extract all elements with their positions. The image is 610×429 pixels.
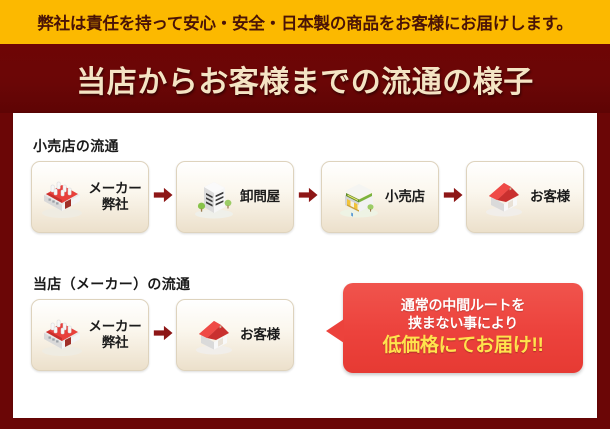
flow-node-retailshop[interactable]: 小売店	[321, 161, 439, 233]
flow-node-label: お客様	[530, 189, 570, 205]
flow-arrow	[294, 161, 321, 233]
flow-arrow	[149, 161, 176, 233]
flow-node-maker[interactable]: メーカー 弊社	[31, 161, 149, 233]
retail-shop-icon	[335, 173, 383, 221]
flow-node-label: お客様	[240, 327, 280, 343]
right-arrow-icon	[152, 184, 174, 211]
tagline-text: 弊社は責任を持って安心・安全・日本製の商品をお客様にお届けします。	[37, 10, 572, 34]
flow-node-label: 卸問屋	[240, 189, 280, 205]
right-arrow-icon	[442, 184, 464, 211]
callout-tail	[326, 319, 344, 343]
flow-node-label: メーカー 弊社	[88, 319, 141, 350]
callout-line-2: 挟まない事により	[408, 315, 518, 333]
tagline-banner: 弊社は責任を持って安心・安全・日本製の商品をお客様にお届けします。	[0, 0, 610, 44]
callout-line-1: 通常の中間ルートを	[401, 297, 525, 315]
section-heading-direct: 当店（メーカー）の流通	[33, 274, 190, 294]
callout-emphasis: 低価格にてお届け!!	[382, 334, 543, 359]
flow-row-direct: メーカー 弊社	[31, 299, 294, 371]
flow-node-customer[interactable]: お客様	[466, 161, 584, 233]
flow-node-label: 小売店	[385, 189, 425, 205]
flow-node-customer[interactable]: お客様	[176, 299, 294, 371]
right-arrow-icon	[297, 184, 319, 211]
office-building-icon	[190, 173, 238, 221]
right-arrow-icon	[152, 322, 174, 349]
price-callout: 通常の中間ルートを 挟まない事により 低価格にてお届け!!	[343, 283, 583, 373]
flow-arrow	[149, 299, 176, 371]
section-heading-retail: 小売店の流通	[33, 136, 119, 156]
flow-row-retail: メーカー 弊社	[31, 161, 584, 233]
factory-icon	[38, 311, 86, 359]
flow-node-wholesaler[interactable]: 卸問屋	[176, 161, 294, 233]
title-banner: 当店からお客様までの流通の様子	[0, 44, 610, 113]
house-icon	[190, 311, 238, 359]
flow-arrow	[439, 161, 466, 233]
flow-node-maker[interactable]: メーカー 弊社	[31, 299, 149, 371]
house-icon	[480, 173, 528, 221]
flow-node-label: メーカー 弊社	[88, 181, 141, 212]
page-title: 当店からお客様までの流通の様子	[76, 57, 534, 101]
content-panel: 小売店の流通	[13, 113, 597, 418]
infographic-canvas: 弊社は責任を持って安心・安全・日本製の商品をお客様にお届けします。 当店からお客…	[0, 0, 610, 429]
factory-icon	[38, 173, 86, 221]
